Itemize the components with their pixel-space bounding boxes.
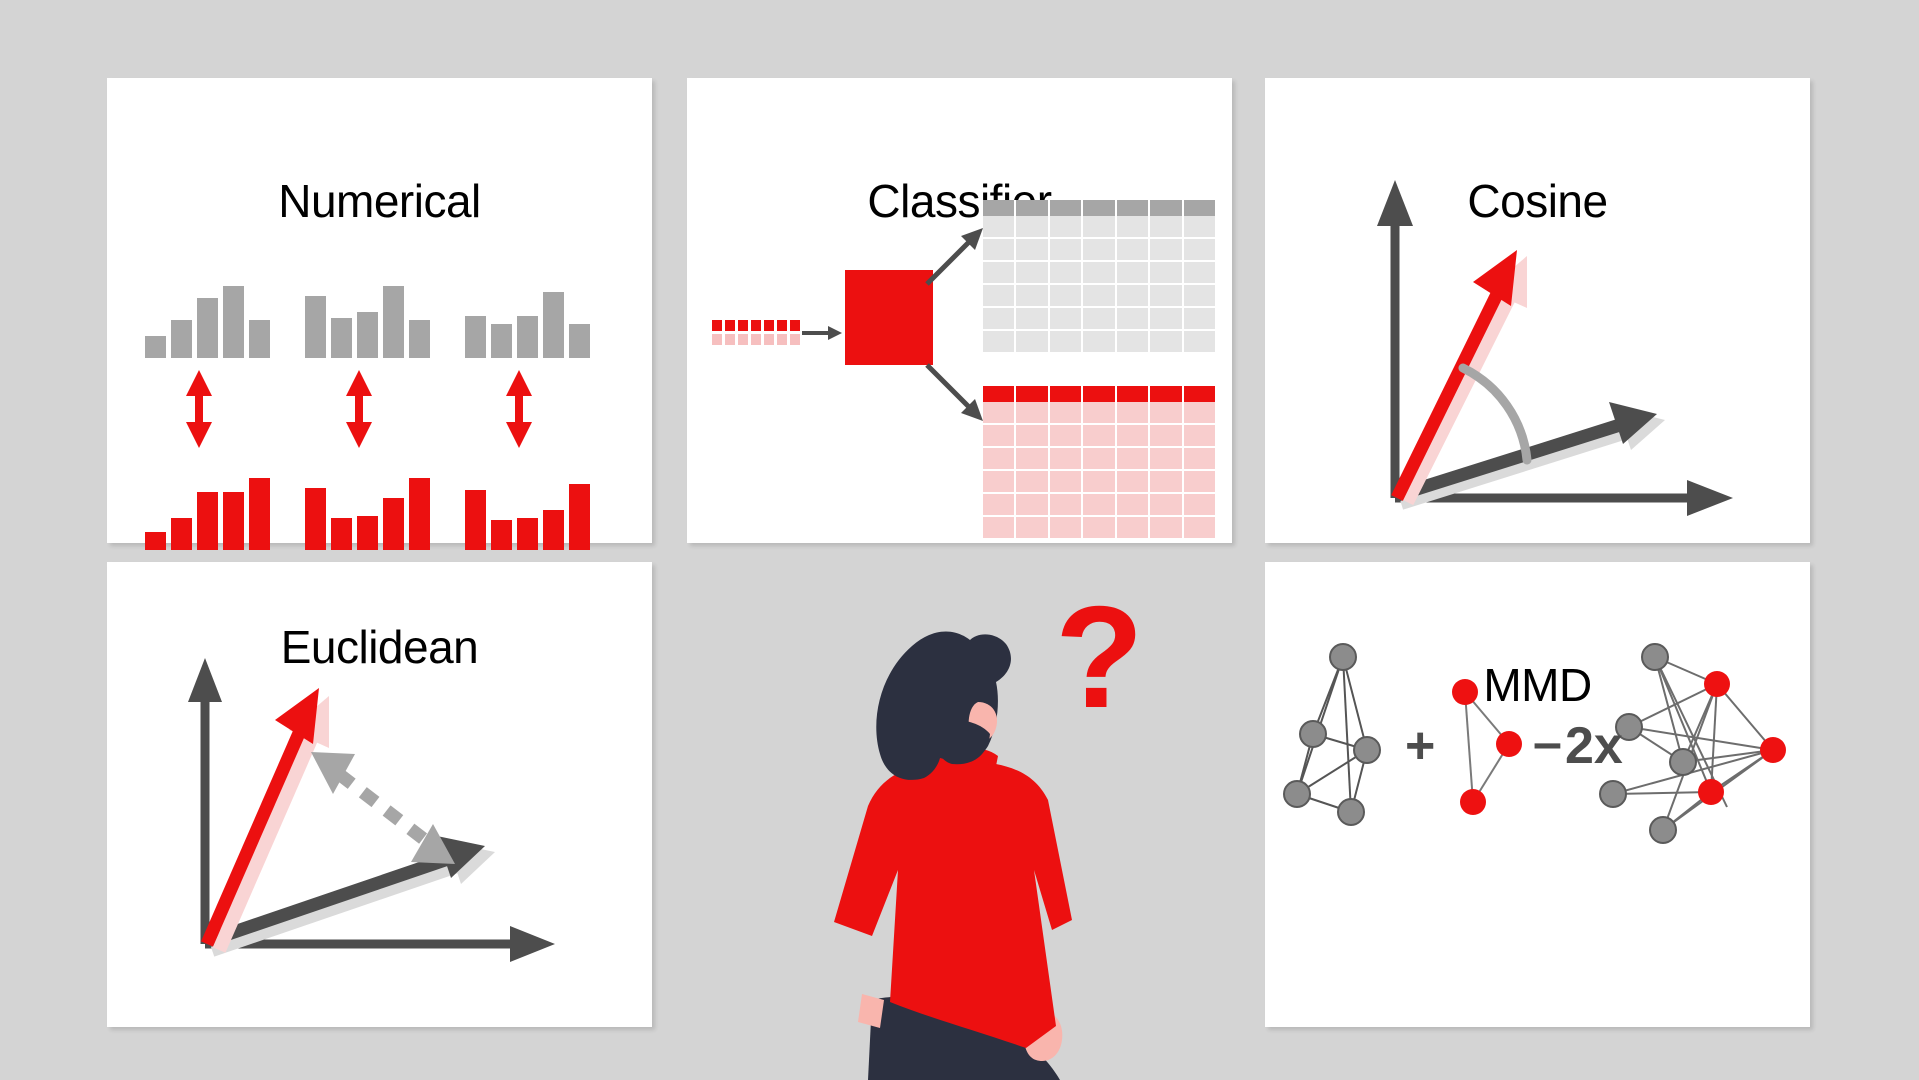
axes-icon (188, 658, 555, 962)
bar (145, 336, 166, 358)
cell (1184, 425, 1215, 448)
bar (409, 478, 430, 550)
red-bars-group-3 (465, 470, 590, 550)
header-cell (1083, 200, 1116, 216)
bar (249, 320, 270, 358)
numerical-group-3 (447, 78, 597, 543)
token-cell (777, 320, 787, 331)
bar (465, 490, 486, 550)
cell (1083, 216, 1116, 239)
panel-mmd[interactable]: MMD (1265, 562, 1810, 1027)
graph-node (1452, 679, 1478, 705)
table-row (983, 471, 1215, 494)
bar (305, 488, 326, 550)
cell (1016, 308, 1049, 331)
grey-bars-group-2 (305, 278, 430, 358)
graph-node (1670, 749, 1696, 775)
cell (1016, 494, 1049, 517)
token-row (712, 334, 800, 345)
cell (1150, 262, 1183, 285)
bar (409, 320, 430, 358)
question-mark: ? (1055, 585, 1144, 730)
table-row (983, 331, 1215, 354)
graph-red-nodes (1452, 679, 1522, 815)
cell (1083, 331, 1116, 354)
cell (1016, 239, 1049, 262)
cosine-vector-diagram (1265, 78, 1810, 543)
cell (1050, 262, 1083, 285)
graph-node (1460, 789, 1486, 815)
header-cell (1150, 386, 1183, 402)
cell (1050, 494, 1083, 517)
cell (1184, 216, 1215, 239)
cell (1150, 331, 1183, 354)
cell (983, 425, 1016, 448)
cell (1016, 448, 1049, 471)
cell (1050, 331, 1083, 354)
cell (1150, 402, 1183, 425)
cell (1083, 448, 1116, 471)
cell (1016, 331, 1049, 354)
bar (569, 324, 590, 358)
bar (171, 320, 192, 358)
cell (1150, 285, 1183, 308)
grey-bars-group-1 (145, 278, 270, 358)
cell (1016, 285, 1049, 308)
cell (1150, 216, 1183, 239)
cell (1150, 517, 1183, 540)
mmd-graph-diagram (1265, 562, 1810, 1027)
cell (1117, 471, 1150, 494)
cell (1016, 471, 1049, 494)
token-cell (712, 320, 722, 331)
cell (1083, 517, 1116, 540)
mmd-factor-label: 2x (1565, 720, 1623, 772)
double-arrow-icon (185, 370, 211, 448)
cell (983, 262, 1016, 285)
arrow-input-to-box-icon (802, 321, 842, 345)
cell (983, 239, 1016, 262)
table-row (983, 402, 1215, 425)
bar (517, 518, 538, 550)
table-row (983, 425, 1215, 448)
table-row (983, 239, 1215, 262)
table-row (983, 517, 1215, 540)
cell (1083, 285, 1116, 308)
cell (1117, 308, 1150, 331)
cell (1117, 239, 1150, 262)
bar (331, 518, 352, 550)
cell (1117, 216, 1150, 239)
header-cell (1117, 200, 1150, 216)
table-row (983, 216, 1215, 239)
panel-cosine[interactable]: Cosine (1265, 78, 1810, 543)
cell (1184, 262, 1215, 285)
graph-node (1284, 781, 1310, 807)
cell (1016, 402, 1049, 425)
cell (1083, 262, 1116, 285)
token-cell (712, 334, 722, 345)
graph-grey-nodes (1284, 644, 1380, 825)
arrow-box-to-red-table-icon (925, 363, 985, 423)
panel-classifier[interactable]: Classifier (687, 78, 1232, 543)
distance-double-arrow-icon (311, 752, 455, 864)
cell (1050, 448, 1083, 471)
header-cell (1184, 200, 1215, 216)
graph-node (1338, 799, 1364, 825)
cell (1150, 308, 1183, 331)
header-cell (983, 200, 1016, 216)
header-cell (1016, 386, 1049, 402)
graph-node (1760, 737, 1786, 763)
table-header-row (983, 386, 1215, 402)
cell (1050, 239, 1083, 262)
numerical-group-1 (127, 78, 277, 543)
bar (331, 318, 352, 358)
double-arrow-icon (345, 370, 371, 448)
bar (197, 298, 218, 358)
cell (1083, 239, 1116, 262)
cell (1150, 425, 1183, 448)
bar (305, 296, 326, 358)
graph-node (1650, 817, 1676, 843)
bar (491, 520, 512, 550)
header-cell (1050, 200, 1083, 216)
table-body (983, 216, 1215, 354)
grey-bars-group-3 (465, 278, 590, 358)
table-header-row (983, 200, 1215, 216)
cell (1117, 425, 1150, 448)
graph-node (1354, 737, 1380, 763)
cell (1117, 331, 1150, 354)
cell (1117, 262, 1150, 285)
panel-euclidean[interactable]: Euclidean (107, 562, 652, 1027)
double-arrow-icon (505, 370, 531, 448)
bar (383, 286, 404, 358)
graph-node (1698, 779, 1724, 805)
grey-result-table (983, 200, 1215, 354)
bar (491, 324, 512, 358)
cell (1083, 308, 1116, 331)
cell (1184, 494, 1215, 517)
token-cell (790, 320, 800, 331)
cell (1083, 471, 1116, 494)
classifier-box[interactable] (845, 270, 933, 365)
cell (1050, 402, 1083, 425)
header-cell (983, 386, 1016, 402)
bar (357, 312, 378, 358)
cell (983, 517, 1016, 540)
cell (1117, 494, 1150, 517)
table-row (983, 494, 1215, 517)
token-cell (725, 334, 735, 345)
cell (1150, 494, 1183, 517)
graph-mixed (1613, 657, 1773, 830)
token-cell (725, 320, 735, 331)
token-cell (738, 320, 748, 331)
bar (543, 510, 564, 550)
hand-left (858, 994, 884, 1028)
cell (1184, 448, 1215, 471)
token-cell (751, 320, 761, 331)
graph-node (1600, 781, 1626, 807)
bar (517, 316, 538, 358)
header-cell (1184, 386, 1215, 402)
cell (983, 308, 1016, 331)
bar (197, 492, 218, 550)
cell (983, 448, 1016, 471)
bar (383, 498, 404, 550)
cell (1117, 448, 1150, 471)
bar (223, 492, 244, 550)
arrow-box-to-grey-table-icon (925, 226, 985, 286)
cell (1184, 517, 1215, 540)
cell (1083, 402, 1116, 425)
header-cell (1083, 386, 1116, 402)
cell (983, 471, 1016, 494)
cell (1050, 216, 1083, 239)
bar (569, 484, 590, 550)
cell (1184, 331, 1215, 354)
cell (1016, 216, 1049, 239)
cell (1050, 308, 1083, 331)
bar (357, 516, 378, 550)
graph-node (1704, 671, 1730, 697)
bar (171, 518, 192, 550)
cell (1184, 402, 1215, 425)
cell (1184, 471, 1215, 494)
table-row (983, 262, 1215, 285)
header-cell (1150, 200, 1183, 216)
graph-node (1642, 644, 1668, 670)
cell (983, 285, 1016, 308)
token-cell (764, 320, 774, 331)
cell (1150, 471, 1183, 494)
header-cell (1016, 200, 1049, 216)
cell (1150, 239, 1183, 262)
slide-canvas: Numerical (0, 0, 1919, 1080)
table-row (983, 308, 1215, 331)
table-row (983, 285, 1215, 308)
graph-node (1300, 721, 1326, 747)
token-cell (790, 334, 800, 345)
red-bars-group-1 (145, 470, 270, 550)
cell (1016, 425, 1049, 448)
mmd-minus-operator: – (1533, 717, 1562, 769)
cell (1184, 239, 1215, 262)
cell (1150, 448, 1183, 471)
bar (465, 316, 486, 358)
cell (983, 331, 1016, 354)
red-result-table (983, 386, 1215, 540)
mmd-plus-operator: + (1405, 720, 1435, 772)
bar (249, 478, 270, 550)
cell (1184, 308, 1215, 331)
token-cell (751, 334, 761, 345)
cell (1117, 517, 1150, 540)
table-row (983, 448, 1215, 471)
token-cell (738, 334, 748, 345)
bar (223, 286, 244, 358)
cell (1083, 494, 1116, 517)
cell (1016, 517, 1049, 540)
bar (145, 532, 166, 550)
cell (1050, 425, 1083, 448)
euclidean-vector-diagram (107, 562, 652, 1027)
table-body (983, 402, 1215, 540)
graph-node (1330, 644, 1356, 670)
input-token-sequence (712, 320, 800, 345)
token-cell (777, 334, 787, 345)
panel-numerical[interactable]: Numerical (107, 78, 652, 543)
cell (1117, 402, 1150, 425)
header-cell (1050, 386, 1083, 402)
cell (1083, 425, 1116, 448)
bar (543, 292, 564, 358)
header-cell (1117, 386, 1150, 402)
cell (1117, 285, 1150, 308)
cell (1184, 285, 1215, 308)
token-cell (764, 334, 774, 345)
cell (983, 402, 1016, 425)
token-row (712, 320, 800, 331)
cell (983, 494, 1016, 517)
numerical-group-2 (287, 78, 437, 543)
red-bars-group-2 (305, 470, 430, 550)
cell (1050, 471, 1083, 494)
cell (1050, 285, 1083, 308)
cell (1050, 517, 1083, 540)
graph-node (1496, 731, 1522, 757)
cell (983, 216, 1016, 239)
cell (1016, 262, 1049, 285)
